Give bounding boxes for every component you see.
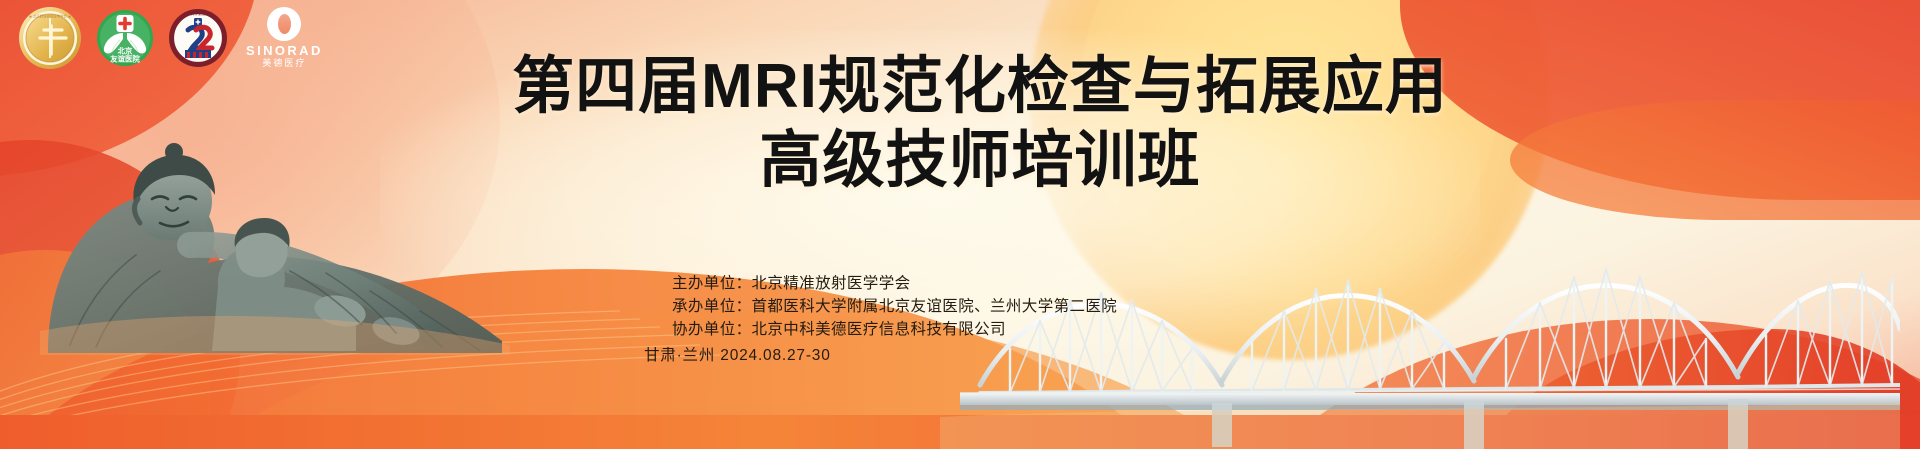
sinorad-logo: SINORAD 美德医疗 [246,7,323,69]
beijing-friendship-hospital-logo: 北京 友谊医院 [96,9,154,67]
organizer-line: 主办单位：北京精准放射医学学会 [672,272,1117,295]
sinorad-wordmark: SINORAD [246,44,323,58]
conference-banner: ★ 北京精准放射医学学会 ★ 北京 友谊医院 [0,0,1920,449]
svg-text:友谊医院: 友谊医院 [109,55,140,64]
event-info-block: 主办单位：北京精准放射医学学会 承办单位：首都医科大学附属北京友谊医院、兰州大学… [672,272,1117,367]
dunhuang-reclining-buddha-illustration [40,95,510,355]
svg-text:兰州大学第二医院: 兰州大学第二医院 [184,11,213,16]
co-organizer-line: 承办单位：首都医科大学附属北京友谊医院、兰州大学第二医院 [672,295,1117,318]
svg-text:★ 北京精准放射医学学会 ★: ★ 北京精准放射医学学会 ★ [29,14,72,19]
supporter-line: 协办单位：北京中科美德医疗信息科技有限公司 [672,318,1117,341]
lanzhou-second-hospital-logo: 兰州大学第二医院 [168,8,228,68]
sinorad-subtext: 美德医疗 [262,58,306,69]
sinorad-eye-icon [267,7,301,41]
event-date-location: 甘肃·兰州 2024.08.27-30 [644,344,1117,367]
gold-medallion-logo: ★ 北京精准放射医学学会 ★ [18,6,82,70]
organization-logos: ★ 北京精准放射医学学会 ★ 北京 友谊医院 [18,6,323,70]
